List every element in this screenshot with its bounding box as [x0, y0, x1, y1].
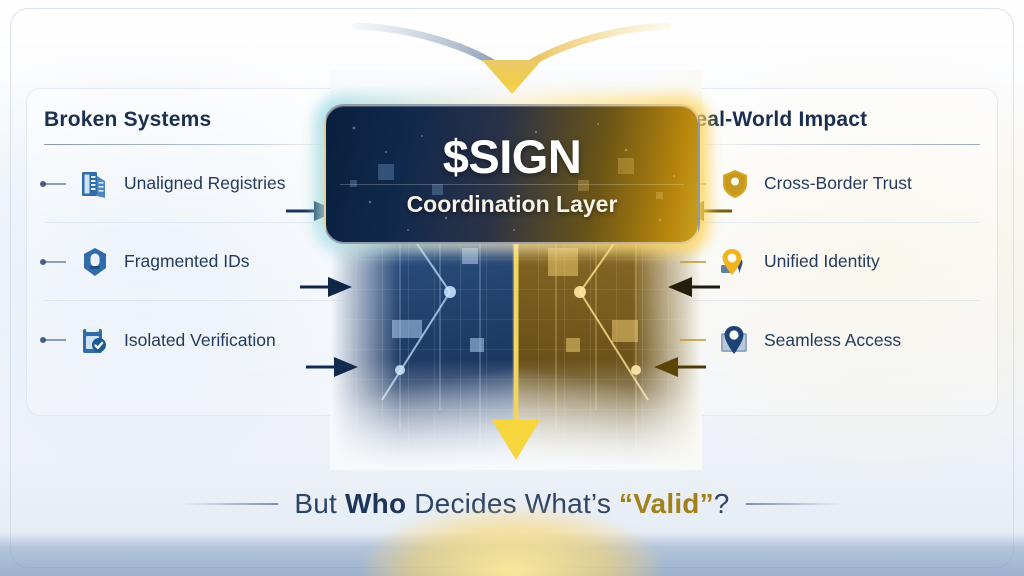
right-column: Real-World Impact Cross-Border Trust Uni… — [680, 108, 980, 379]
list-item-label: Seamless Access — [764, 330, 901, 351]
server-rack-icon — [78, 167, 112, 201]
list-item-label: Cross-Border Trust — [764, 173, 912, 194]
left-column: Broken Systems Unaligned Registries — [44, 108, 344, 379]
caption-part3: ? — [714, 488, 730, 519]
connector-stub — [44, 339, 66, 341]
list-item-label: Isolated Verification — [124, 330, 276, 351]
infographic-canvas: Broken Systems Unaligned Registries — [0, 0, 1024, 576]
badge-title: $SIGN — [443, 133, 582, 180]
caption-rule-left — [182, 503, 278, 505]
shield-icon — [718, 167, 752, 201]
connector-stub — [44, 183, 66, 185]
map-pin-gold-icon — [718, 245, 752, 279]
list-item-label: Fragmented IDs — [124, 251, 249, 272]
sign-coordination-badge[interactable]: $SIGN Coordination Layer — [324, 104, 700, 244]
badge-subtitle: Coordination Layer — [407, 193, 618, 216]
right-flow-arrow-2 — [664, 274, 720, 300]
bottom-outflow-arrow — [488, 236, 544, 464]
connector-stub — [680, 261, 706, 263]
connector-stub — [680, 339, 706, 341]
left-flow-arrow-2 — [300, 274, 356, 300]
map-pin-navy-icon — [718, 323, 752, 357]
connector-stub — [44, 261, 66, 263]
list-item[interactable]: Unified Identity — [680, 223, 980, 301]
right-column-title: Real-World Impact — [680, 108, 980, 132]
clipboard-check-icon — [78, 323, 112, 357]
caption-rule-right — [746, 503, 842, 505]
list-item-label: Unified Identity — [764, 251, 880, 272]
list-item-label: Unaligned Registries — [124, 173, 285, 194]
caption-gold-word: “Valid” — [619, 488, 714, 519]
list-item[interactable]: Fragmented IDs — [44, 223, 344, 301]
left-flow-arrow-3 — [306, 354, 362, 380]
list-item[interactable]: Isolated Verification — [44, 301, 344, 379]
caption-emphasis: Who — [345, 488, 406, 519]
left-column-title: Broken Systems — [44, 108, 344, 132]
top-inflow-arrow — [352, 2, 672, 94]
right-flow-arrow-3 — [650, 354, 706, 380]
id-badge-icon — [78, 245, 112, 279]
list-item[interactable]: Seamless Access — [680, 301, 980, 379]
caption-part1: But — [294, 488, 345, 519]
